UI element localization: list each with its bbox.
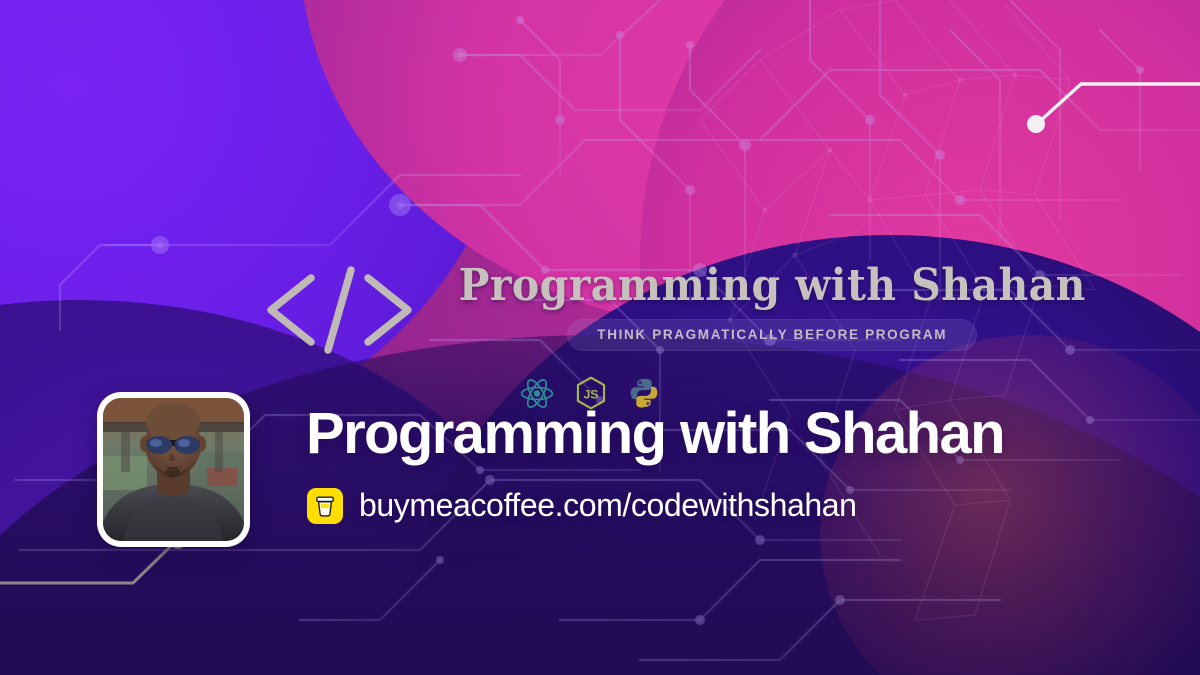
brand-tagline: THINK PRAGMATICALLY BEFORE PROGRAM: [597, 327, 947, 342]
brand-title: Programming with Shahan: [459, 263, 1086, 310]
tagline-pill: THINK PRAGMATICALLY BEFORE PROGRAM: [567, 319, 977, 351]
buymeacoffee-link-row[interactable]: buymeacoffee.com/codewithshahan: [307, 487, 857, 524]
page-title: Programming with Shahan: [306, 405, 1004, 463]
svg-text:JS: JS: [583, 387, 598, 401]
avatar-portrait-illustration: [103, 398, 244, 541]
brand-logo-block: Programming with Shahan THINK PRAGMATICA…: [255, 258, 955, 356]
avatar-photo: [103, 398, 244, 541]
code-brackets-icon: [255, 264, 425, 356]
profile-avatar[interactable]: [97, 392, 250, 547]
channel-banner: Programming with Shahan THINK PRAGMATICA…: [0, 0, 1200, 675]
buymeacoffee-cup-icon[interactable]: [307, 488, 343, 524]
top-right-circuit-trace: [995, 52, 1200, 142]
buymeacoffee-url[interactable]: buymeacoffee.com/codewithshahan: [359, 487, 857, 524]
